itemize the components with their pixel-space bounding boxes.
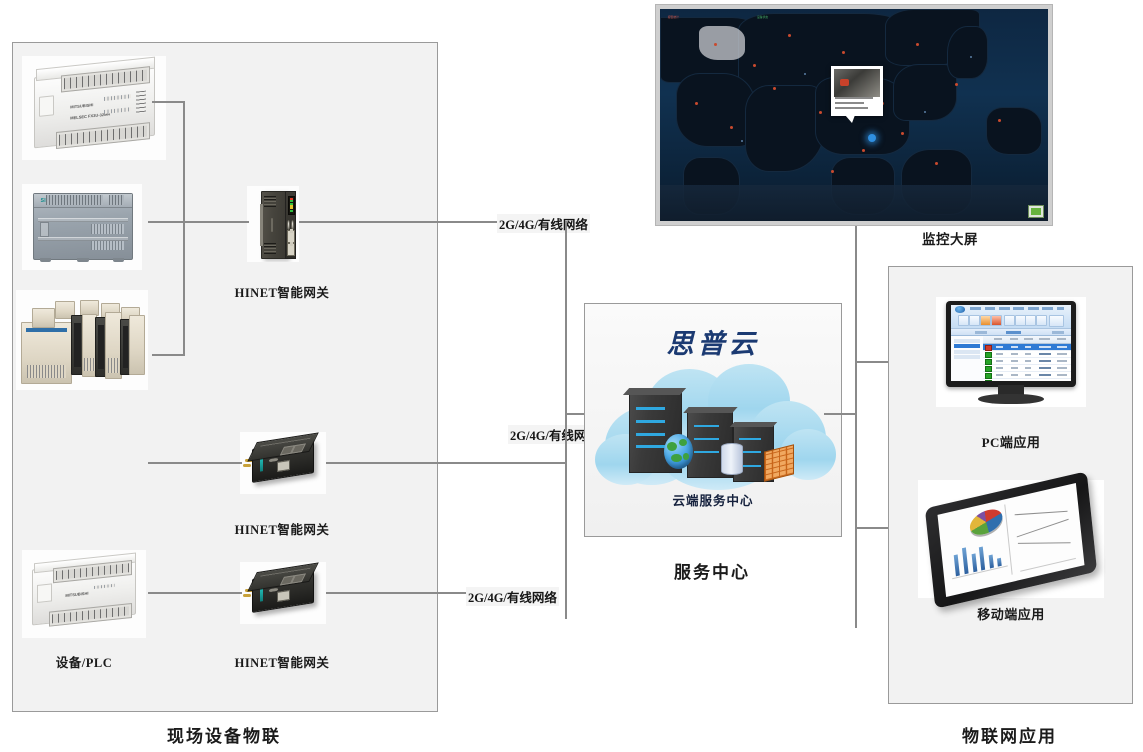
cloud-logo: 思普云: [585, 322, 841, 361]
mobile-line-chart: [1014, 511, 1067, 516]
legend-alarm-title: 报警统计: [668, 15, 679, 20]
database-icon: [721, 443, 743, 475]
mobile-line-chart: [1018, 542, 1071, 544]
wire-plc-bus: [183, 101, 185, 355]
network-label-3: 2G/4G/有线网络: [466, 587, 559, 606]
architecture-diagram: MITSUBISHI MELSEC FX3U-32MR SIEMENS: [0, 0, 1143, 752]
wire-plc3-stub: [152, 354, 185, 356]
mobile-pie-chart: [968, 505, 1003, 539]
wire-gateway2-out: [326, 462, 566, 464]
map-active-marker: [868, 134, 876, 142]
monitoring-wall: 报警统计 设备状态: [655, 4, 1053, 226]
mobile-line-chart: [1016, 519, 1068, 538]
caption-gateway-1: HINET智能网关: [202, 282, 362, 301]
device-hinet-gateway-din: [247, 186, 299, 262]
section-title-iot: 物联网应用: [888, 722, 1131, 747]
map-device-popup: [831, 66, 883, 116]
legend-status-title: 设备状态: [757, 15, 768, 20]
caption-pc-app: PC端应用: [936, 432, 1086, 451]
mobile-bar: [962, 547, 969, 574]
wire-to-mobile-app: [855, 527, 890, 529]
device-plc-siemens: SIEMENS: [22, 184, 142, 270]
panel-service-center: 思普云: [584, 303, 842, 537]
caption-gateway-2: HINET智能网关: [202, 519, 362, 538]
map-legend-alarm: 报警统计: [668, 15, 679, 20]
device-hinet-gateway-box-1: [240, 432, 326, 494]
pc-app-screen: [951, 305, 1071, 381]
wire-trunk-left: [565, 221, 567, 619]
firewall-icon: [764, 444, 794, 481]
wire-plc-mid-to-gateway: [148, 462, 242, 464]
wire-to-pc-app: [855, 361, 890, 363]
popup-device-photo: [834, 69, 880, 97]
pc-app-ribbon: [951, 305, 1071, 336]
section-title-service: 服务中心: [584, 558, 840, 583]
caption-mobile-app: 移动端应用: [918, 604, 1104, 623]
wire-cloud-to-right-trunk: [824, 413, 856, 415]
globe-icon: [664, 434, 692, 469]
wire-plc-bot-to-gateway: [148, 592, 242, 594]
caption-monitoring-wall: 监控大屏: [815, 228, 1085, 248]
device-plc-rack: [16, 290, 148, 390]
mobile-bar: [997, 557, 1002, 566]
device-plc-generic: MITSUBISHI: [22, 550, 146, 638]
map-legend-status: 设备状态: [757, 15, 768, 20]
device-tablet: [918, 480, 1104, 598]
caption-gateway-3: HINET智能网关: [202, 652, 362, 671]
mobile-bar: [954, 554, 960, 576]
pc-app-table: [983, 336, 1071, 381]
cloud-caption: 云端服务中心: [585, 490, 841, 509]
device-pc-monitor: [936, 297, 1086, 407]
gateway-led-strip: [288, 196, 295, 215]
wire-plc2-to-gateway: [148, 221, 249, 223]
device-hinet-gateway-box-2: [240, 562, 326, 624]
network-label-1: 2G/4G/有线网络: [497, 214, 590, 233]
caption-plc-generic: 设备/PLC: [24, 652, 144, 671]
screen-status-icon: [1028, 205, 1044, 218]
wall-screen: 报警统计 设备状态: [660, 9, 1048, 221]
mobile-app-screen: [937, 483, 1085, 597]
section-title-field: 现场设备物联: [12, 722, 436, 747]
pc-app-tree: [951, 336, 984, 381]
device-plc-mitsubishi: MITSUBISHI MELSEC FX3U-32MR: [22, 56, 166, 160]
mobile-bar: [971, 553, 977, 572]
mobile-bar: [979, 547, 985, 571]
wire-wall-drop: [855, 228, 857, 362]
cloud-illustration: 思普云: [585, 304, 841, 536]
mobile-bar: [988, 554, 993, 568]
wire-gateway1-out: [299, 221, 497, 223]
wire-plc1-stub: [152, 101, 185, 103]
